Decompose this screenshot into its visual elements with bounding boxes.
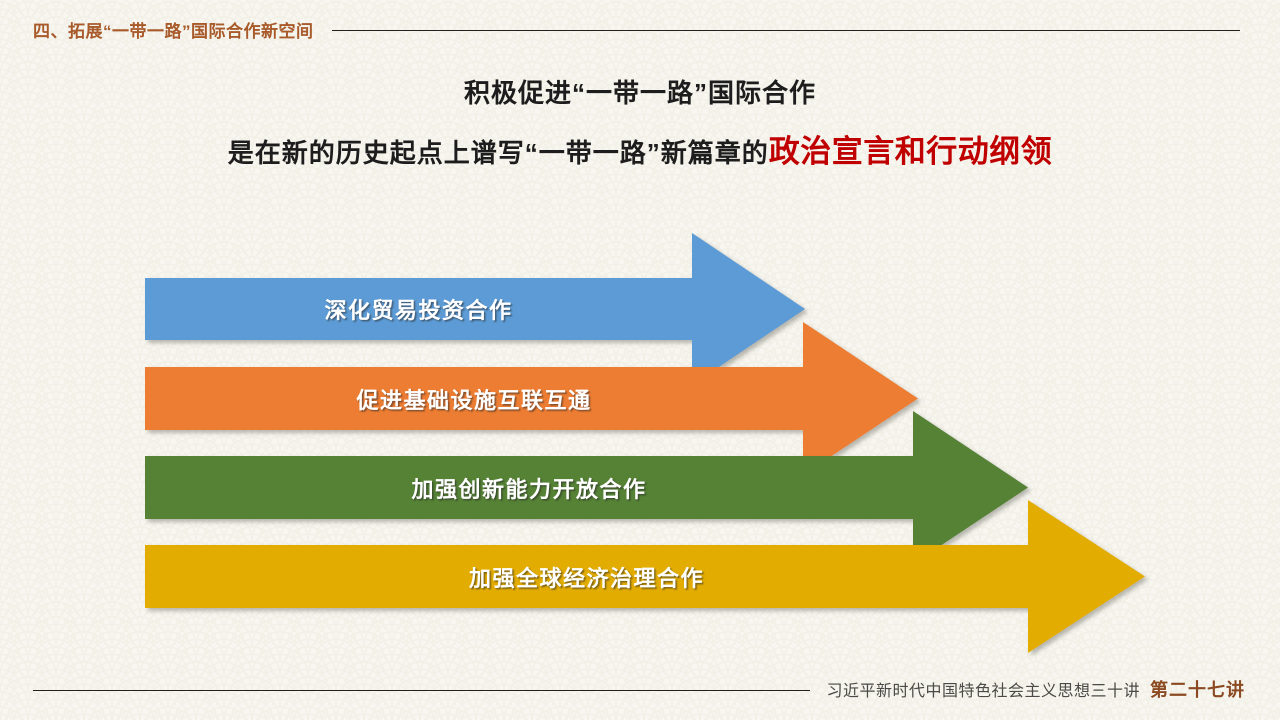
arrow-shape-4 (139, 494, 1155, 663)
slide-header: 四、拓展“一带一路”国际合作新空间 (33, 14, 1240, 44)
footer-series-title: 习近平新时代中国特色社会主义思想三十讲 (826, 677, 1140, 701)
header-section-title: 四、拓展“一带一路”国际合作新空间 (33, 17, 314, 42)
title-line-two-prefix: 是在新的历史起点上谱写“一带一路”新篇章的 (228, 138, 769, 168)
slide-canvas: 四、拓展“一带一路”国际合作新空间 积极促进“一带一路”国际合作 是在新的历史起… (0, 0, 1280, 720)
title-line-two-emphasis: 政治宣言和行动纲领 (769, 134, 1053, 169)
footer-divider-line (33, 690, 810, 691)
header-divider-line (332, 30, 1241, 31)
slide-footer: 习近平新时代中国特色社会主义思想三十讲 第二十七讲 (33, 672, 1245, 706)
title-line-two: 是在新的历史起点上谱写“一带一路”新篇章的政治宣言和行动纲领 (0, 132, 1280, 173)
title-block: 积极促进“一带一路”国际合作 是在新的历史起点上谱写“一带一路”新篇章的政治宣言… (0, 76, 1280, 173)
title-line-one: 积极促进“一带一路”国际合作 (0, 76, 1280, 110)
arrow-polygon-4 (145, 500, 1145, 653)
arrow-chevron-4[interactable]: 加强全球经济治理合作 (139, 494, 1155, 663)
footer-lecture-number: 第二十七讲 (1150, 676, 1245, 702)
